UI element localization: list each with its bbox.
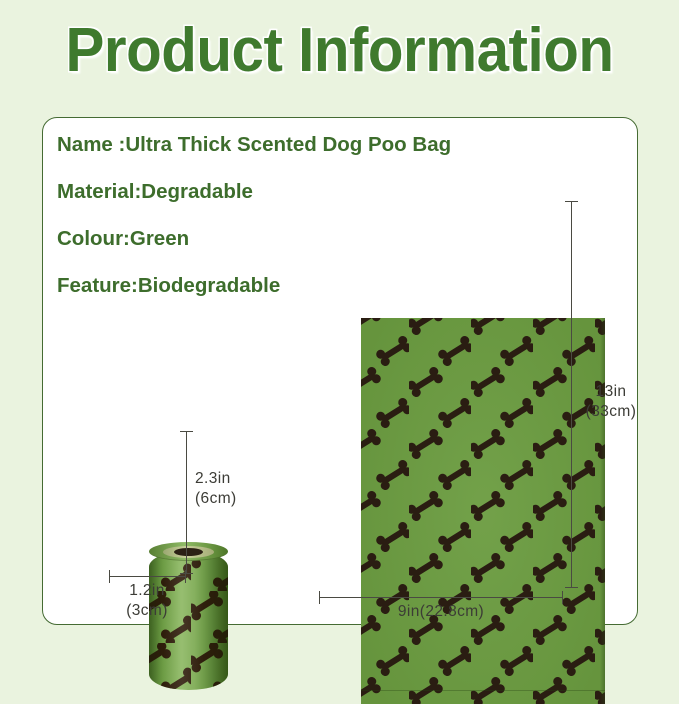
spec-row-feature: Feature:Biodegradable [57, 273, 577, 298]
bag-seam-line [361, 690, 605, 691]
roll-height-label-metric: (6cm) [195, 489, 237, 509]
bag-height-label-imperial: 13in [580, 382, 642, 402]
spec-row-colour: Colour:Green [57, 226, 577, 251]
bag-width-dimension-line [319, 597, 563, 598]
bag-width-label: 9in(22.8cm) [319, 602, 563, 622]
bag-height-dimension-cap-top [565, 201, 578, 202]
roll-height-dimension-cap-bottom [180, 573, 193, 574]
roll-core-hole [174, 548, 203, 556]
spec-row-material: Material:Degradable [57, 179, 577, 204]
bag-height-dimension-cap-bottom [565, 587, 578, 588]
spec-row-name: Name :Ultra Thick Scented Dog Poo Bag [57, 132, 577, 157]
roll-height-dimension-line [186, 431, 187, 573]
product-info-card: Name :Ultra Thick Scented Dog Poo Bag Ma… [42, 117, 638, 625]
roll-width-label: 1.2in (3cm) [97, 581, 197, 621]
bag-figure [361, 318, 605, 704]
bag-height-label: 13in (33cm) [580, 382, 642, 422]
roll-height-dimension-cap-top [180, 431, 193, 432]
bone-pattern-bag [361, 318, 605, 704]
bag-sheet [361, 318, 605, 704]
roll-width-dimension-line [109, 576, 186, 577]
bag-height-dimension-line [571, 201, 572, 587]
roll-width-label-imperial: 1.2in [97, 581, 197, 601]
roll-width-label-metric: (3cm) [97, 601, 197, 621]
bag-height-label-metric: (33cm) [580, 402, 642, 422]
roll-height-label: 2.3in (6cm) [195, 469, 237, 509]
bag-right-edge-shade [600, 318, 605, 704]
roll-height-label-imperial: 2.3in [195, 469, 237, 489]
page-title: Product Information [20, 14, 658, 88]
spec-list: Name :Ultra Thick Scented Dog Poo Bag Ma… [57, 132, 577, 320]
